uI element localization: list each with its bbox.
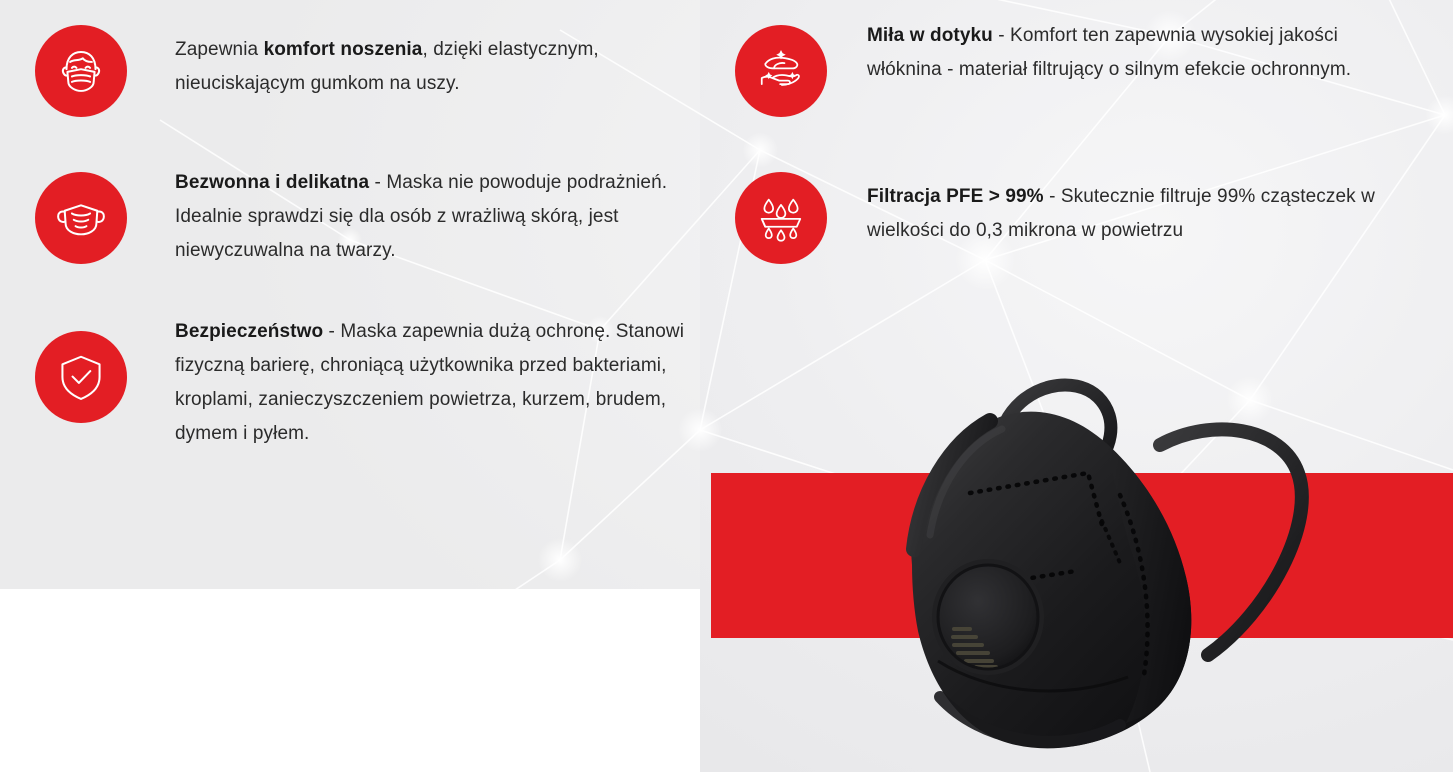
hands-sparkle-icon [735,25,827,117]
shield-check-icon [35,331,127,423]
feature-text: Filtracja PFE > 99% - Skutecznie filtruj… [867,180,1427,248]
feature-text-bold: Miła w dotyku [867,25,993,46]
feature-text: Miła w dotyku - Komfort ten zapewnia wys… [867,19,1397,87]
feature-item: Filtracja PFE > 99% - Skutecznie filtruj… [735,172,1427,264]
feature-item: Bezpieczeństwo - Maska zapewnia dużą och… [35,331,685,451]
feature-text: Zapewnia komfort noszenia, dzięki elasty… [175,33,645,101]
feature-text-prefix: Zapewnia [175,39,264,60]
feature-text-bold: Filtracja PFE > 99% [867,186,1044,207]
filtration-droplets-icon [735,172,827,264]
feature-text-bold: Bezwonna i delikatna [175,172,369,193]
feature-text: Bezpieczeństwo - Maska zapewnia dużą och… [175,315,685,451]
face-with-mask-icon [35,25,127,117]
soft-mask-icon [35,172,127,264]
feature-item: Miła w dotyku - Komfort ten zapewnia wys… [735,25,1397,117]
feature-item: Bezwonna i delikatna - Maska nie powoduj… [35,172,675,268]
feature-text-bold: Bezpieczeństwo [175,321,323,342]
product-feature-banner: Zapewnia komfort noszenia, dzięki elasty… [0,0,1453,772]
red-accent-bar [711,473,1453,638]
feature-item: Zapewnia komfort noszenia, dzięki elasty… [35,25,645,117]
feature-text-bold: komfort noszenia [264,39,423,60]
feature-text: Bezwonna i delikatna - Maska nie powoduj… [175,166,675,268]
